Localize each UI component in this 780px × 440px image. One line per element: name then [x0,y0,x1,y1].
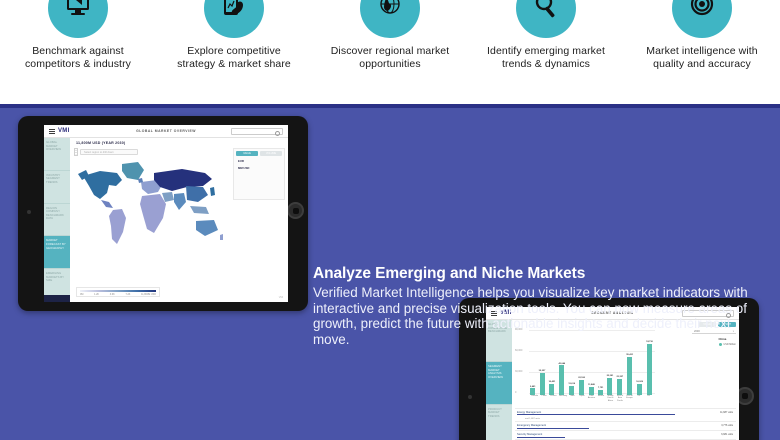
map-region-greenland [122,162,144,180]
map-heading: 11,800M USD (YEAR 2030) [76,141,125,145]
map-panel-row-0: EUR [238,159,284,163]
map-region-india [174,193,186,210]
feature-item-discover[interactable]: Discover regional market opportunities [312,0,468,71]
map-region-south-america [109,209,126,244]
sidebar-item-0[interactable]: GLOBAL MARKET OVERVIEW [44,138,70,171]
sidebar-footer [44,295,70,302]
x-axis-tick: US [644,395,653,405]
feature-item-explore[interactable]: Explore competitive strategy & market sh… [156,0,312,71]
bar-rect [647,344,652,395]
feature-item-intelligence[interactable]: Market intelligence with quality and acc… [624,0,780,71]
feature-label: Market intelligence with quality and acc… [642,45,762,71]
map-stage: 11,800M USD (YEAR 2030) + − Select regio… [70,138,288,302]
y-tick-0: 0 [515,391,516,394]
x-axis-tick: Canada [530,395,539,405]
tablet-world-map: VMI GLOBAL MARKET OVERVIEW GLOBAL MARKET… [18,116,308,311]
monitor-icon [48,0,108,38]
map-region-new-zealand [220,234,223,240]
map-region-southeast-asia [190,206,209,214]
map-panel-tabs: VALUE VOLUME [236,151,282,156]
segment-amount: 6,681 units [721,433,733,436]
map-footnote: VMI [279,296,283,299]
bar-rect [540,373,545,395]
map-filter-input[interactable]: Select region to drill down [80,149,138,155]
map-region-central-america [101,200,113,208]
map-side-panel: VALUE VOLUME EUR MM USD [233,148,285,200]
x-axis-tick: Middle East & Africa [606,395,615,405]
app-topbar: VMI GLOBAL MARKET OVERVIEW [44,125,288,138]
segment-name: Energy Management [517,411,736,414]
bar-rect [549,384,554,395]
legend-tick-3: 7.2K [125,293,130,296]
bar-rect [569,386,574,395]
feature-label: Benchmark against competitors & industry [18,45,138,71]
segment-amount: 3,776 units [721,424,733,427]
camera-dot [27,210,31,214]
bar-rect [579,380,584,395]
sidebar-item-1[interactable]: SEGMENT MARKET ANALYSIS OVERVIEW [486,362,512,404]
globe-icon [360,0,420,38]
x-axis-tick: Germany [559,395,568,405]
feature-item-benchmark[interactable]: Benchmark against competitors & industry [0,0,156,71]
x-axis-tick: Rest of Asia Pacific [616,395,625,405]
tab-volume[interactable]: VOLUME [260,151,282,156]
x-axis-labels: CanadaChinaFranceGermanyIndiaJapanLatin … [530,395,653,405]
segment-bar [517,428,589,429]
bar-rect [607,378,612,395]
segment-subnote: and 1,687 units [525,418,736,420]
x-axis-tick: France [549,395,558,405]
bar-rect [617,379,622,395]
purple-content-panel: VMI GLOBAL MARKET OVERVIEW GLOBAL MARKET… [0,108,780,440]
magnifier-icon [516,0,576,38]
tab-value[interactable]: VALUE [236,151,258,156]
target-icon [672,0,732,38]
x-axis-tick: Latin America [587,395,596,405]
bar-rect [559,365,564,395]
map-app: VMI GLOBAL MARKET OVERVIEW GLOBAL MARKET… [44,125,288,302]
bar-rect [589,387,594,395]
tablet-screen: VMI GLOBAL MARKET OVERVIEW GLOBAL MARKET… [44,125,288,302]
map-region-north-america [83,171,122,199]
map-legend: 0M 1.2K 3.6K 7.2K 11,800M USD [76,287,160,297]
camera-dot [468,395,472,399]
world-map-svg[interactable] [74,156,224,261]
feature-strip: Benchmark against competitors & industry… [0,0,780,104]
segment-row[interactable]: Energy Management11,687 units [515,408,736,417]
search-input[interactable] [231,128,283,135]
copy-title: Analyze Emerging and Niche Markets [313,265,761,283]
x-axis-tick: India [568,395,577,405]
map-zoom-controls[interactable]: + − [74,148,78,156]
segment-name: Emergency Management [517,424,736,427]
sidebar-item-2[interactable]: REGION COMPANY BENCHMARK DATA [44,204,70,237]
bar-rect [637,384,642,395]
x-axis-tick: Rest of Europe [625,395,634,405]
bar-rect [627,357,632,395]
x-axis-tick: Mexico [597,395,606,405]
legend-tick-0: 0M [80,293,83,296]
legend-tick-4: 11,800M USD [141,293,156,296]
segment-amount: 11,687 units [720,411,733,414]
map-region-japan [210,187,215,196]
segment-list: Energy Management11,687 unitsand 1,687 u… [515,408,736,440]
y-tick-2: 60,000 [515,349,522,352]
sidebar: GLOBAL MARKET OVERVIEW INDUSTRY SEGMENT … [44,138,70,302]
copy-block-analyze: Analyze Emerging and Niche Markets Verif… [313,265,761,347]
y-tick-1: 30,000 [515,370,522,373]
segment-name: Security Management [517,433,736,436]
sidebar-item-3[interactable]: MARKET FORECAST BY GEOGRAPHY [44,236,70,269]
map-region-africa [140,194,166,233]
segment-bar [517,437,565,438]
legend-ticks: 0M 1.2K 3.6K 7.2K 11,800M USD [80,293,156,296]
x-axis-tick: China [540,395,549,405]
segment-row[interactable]: Security Management6,681 units [515,430,736,439]
x-axis-tick: UK [635,395,644,405]
tablet-hand-icon [204,0,264,38]
feature-label: Discover regional market opportunities [330,45,450,71]
bar-rect [530,388,535,395]
map-region-china [186,186,208,202]
segment-bar [517,414,675,415]
copy-body: Verified Market Intelligence helps you v… [313,285,761,347]
sidebar-item-2[interactable]: PRODUCT MARKET TRENDS [486,405,512,440]
map-region-australia [196,220,218,236]
legend-tick-2: 3.6K [110,293,115,296]
feature-label: Explore competitive strategy & market sh… [174,45,294,71]
legend-tick-1: 1.2K [94,293,99,296]
map-panel-row-1: MM USD [238,166,284,170]
home-button[interactable] [287,202,304,219]
x-axis-tick: Japan [578,395,587,405]
feature-label: Identify emerging market trends & dynami… [486,45,606,71]
infographic-page: Benchmark against competitors & industry… [0,0,780,440]
segment-row[interactable]: Emergency Management3,776 units [515,421,736,430]
feature-item-identify[interactable]: Identify emerging market trends & dynami… [468,0,624,71]
sidebar-item-1[interactable]: INDUSTRY SEGMENT TRENDS [44,171,70,204]
